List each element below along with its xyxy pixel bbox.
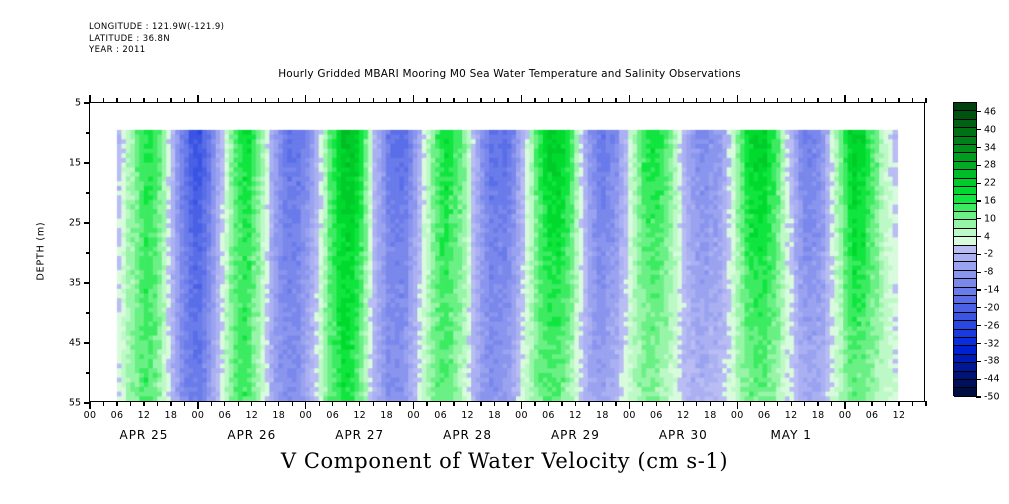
y-tick-minor: [86, 372, 90, 373]
x-tick-top: [844, 95, 845, 103]
colorbar-tick: [976, 325, 981, 326]
x-tick: [494, 401, 495, 406]
x-tick: [103, 401, 104, 406]
x-day-label: APR 30: [659, 428, 708, 442]
x-tick-top: [89, 95, 90, 103]
x-tick: [534, 401, 535, 406]
colorbar-tick: [976, 289, 981, 290]
x-tick-top: [238, 98, 239, 103]
colorbar-cell: [954, 103, 976, 111]
x-tick: [777, 401, 778, 406]
x-tick: [184, 401, 185, 406]
x-tick-label: 00: [407, 410, 420, 421]
x-tick: [359, 401, 360, 406]
y-tick-minor: [86, 312, 90, 313]
y-tick-label: 5: [75, 98, 81, 109]
x-tick-label: 06: [111, 410, 124, 421]
x-tick: [467, 401, 468, 406]
x-tick-top: [373, 98, 374, 103]
x-day-label: APR 28: [443, 428, 492, 442]
colorbar-label: -50: [984, 392, 1000, 403]
x-tick-top: [737, 95, 738, 103]
colorbar-tick: [976, 343, 981, 344]
y-tick-label: 25: [69, 218, 81, 229]
plot-title: Hourly Gridded MBARI Mooring M0 Sea Wate…: [0, 68, 1009, 80]
x-tick: [669, 401, 670, 406]
x-tick-top: [858, 98, 859, 103]
x-tick: [143, 401, 144, 406]
colorbar-tick: [976, 183, 981, 184]
colorbar-label: -32: [984, 338, 1000, 349]
x-tick-top: [898, 98, 899, 103]
x-tick-top: [103, 98, 104, 103]
x-tick-label: 00: [192, 410, 205, 421]
x-tick: [925, 401, 926, 406]
colorbar-cell: [954, 153, 976, 161]
colorbar: 464034282216104-2-8-14-20-26-32-38-44-50: [953, 102, 977, 396]
x-tick: [453, 401, 454, 406]
x-tick-label: 06: [866, 410, 879, 421]
colorbar-cell: [954, 254, 976, 262]
x-tick: [332, 401, 333, 406]
longitude-text: LONGITUDE : 121.9W(-121.9): [89, 22, 224, 34]
x-tick: [170, 401, 171, 406]
colorbar-cell: [954, 355, 976, 363]
colorbar-tick: [976, 200, 981, 201]
x-tick: [629, 401, 630, 409]
colorbar-cell: [954, 229, 976, 237]
y-tick: [84, 282, 90, 283]
x-tick-top: [332, 98, 333, 103]
colorbar-label: -44: [984, 374, 1000, 385]
colorbar-label: -26: [984, 320, 1000, 331]
metadata-block: LONGITUDE : 121.9W(-121.9) LATITUDE : 36…: [89, 22, 224, 57]
y-tick-label: 35: [69, 278, 81, 289]
colorbar-cell: [954, 346, 976, 354]
x-tick: [588, 401, 589, 406]
x-tick: [346, 401, 347, 406]
y-tick-minor: [86, 252, 90, 253]
x-tick-label: 00: [84, 410, 97, 421]
x-tick: [548, 401, 549, 406]
colorbar-cell: [954, 304, 976, 312]
x-tick-top: [561, 98, 562, 103]
colorbar-cell: [954, 313, 976, 321]
x-tick-label: 18: [165, 410, 178, 421]
x-tick: [238, 401, 239, 406]
colorbar-label: 22: [984, 178, 996, 189]
x-tick-top: [116, 98, 117, 103]
colorbar-label: 40: [984, 124, 996, 135]
x-tick-top: [804, 98, 805, 103]
colorbar-label: 4: [984, 231, 990, 242]
y-tick-label: 55: [69, 398, 81, 409]
x-tick-top: [642, 98, 643, 103]
x-tick: [737, 401, 738, 409]
colorbar-label: -2: [984, 249, 993, 260]
x-tick-label: 18: [380, 410, 393, 421]
colorbar-cell: [954, 195, 976, 203]
x-day-label: APR 29: [551, 428, 600, 442]
x-tick-top: [656, 98, 657, 103]
x-tick: [157, 401, 158, 406]
colorbar-cell: [954, 246, 976, 254]
colorbar-label: -38: [984, 356, 1000, 367]
colorbar-tick: [976, 272, 981, 273]
colorbar-cell: [954, 279, 976, 287]
year-text: YEAR : 2011: [89, 45, 224, 57]
x-tick-label: 18: [704, 410, 717, 421]
x-tick-top: [602, 98, 603, 103]
x-tick: [305, 401, 306, 409]
x-tick-top: [548, 98, 549, 103]
colorbar-cell: [954, 128, 976, 136]
x-tick-top: [453, 98, 454, 103]
colorbar-tick: [976, 361, 981, 362]
x-tick-label: 06: [650, 410, 663, 421]
colorbar-cell: [954, 162, 976, 170]
y-tick-minor: [86, 132, 90, 133]
x-tick-label: 00: [515, 410, 528, 421]
x-tick: [507, 401, 508, 406]
x-tick-label: 06: [434, 410, 447, 421]
x-day-label: APR 26: [227, 428, 276, 442]
x-tick: [615, 401, 616, 406]
x-tick-top: [534, 98, 535, 103]
x-tick: [251, 401, 252, 406]
x-tick-top: [925, 98, 926, 103]
y-tick-label: 15: [69, 158, 81, 169]
x-tick-top: [278, 98, 279, 103]
x-tick-label: 00: [731, 410, 744, 421]
y-tick: [84, 222, 90, 223]
x-tick-top: [386, 98, 387, 103]
x-tick-top: [871, 98, 872, 103]
colorbar-cell: [954, 170, 976, 178]
y-tick: [84, 162, 90, 163]
colorbar-tick: [976, 307, 981, 308]
x-tick: [804, 401, 805, 406]
x-tick-label: 12: [138, 410, 151, 421]
colorbar-tick: [976, 236, 981, 237]
x-tick: [130, 401, 131, 406]
x-tick: [211, 401, 212, 406]
x-tick: [858, 401, 859, 406]
colorbar-cell: [954, 137, 976, 145]
y-axis-title: DEPTH (m): [36, 222, 47, 281]
colorbar-cell: [954, 212, 976, 220]
x-tick-top: [494, 98, 495, 103]
colorbar-cell: [954, 179, 976, 187]
x-tick-top: [143, 98, 144, 103]
x-tick-top: [521, 95, 522, 103]
x-tick: [642, 401, 643, 406]
x-tick-top: [669, 98, 670, 103]
colorbar-cell: [954, 288, 976, 296]
x-tick: [480, 401, 481, 406]
colorbar-tick: [976, 147, 981, 148]
x-tick-label: 00: [623, 410, 636, 421]
x-tick-top: [575, 98, 576, 103]
x-tick-top: [440, 98, 441, 103]
x-tick: [683, 401, 684, 406]
colorbar-label: 16: [984, 196, 996, 207]
colorbar-cell: [954, 204, 976, 212]
x-tick: [292, 401, 293, 406]
colorbar-cell: [954, 338, 976, 346]
colorbar-cell: [954, 363, 976, 371]
x-tick-top: [791, 98, 792, 103]
x-day-label: APR 27: [335, 428, 384, 442]
x-tick-top: [764, 98, 765, 103]
colorbar-cell: [954, 321, 976, 329]
x-tick-top: [480, 98, 481, 103]
x-tick: [817, 401, 818, 406]
x-tick: [696, 401, 697, 406]
x-tick: [278, 401, 279, 406]
x-tick: [197, 401, 198, 409]
x-tick-top: [157, 98, 158, 103]
x-tick: [885, 401, 886, 406]
x-tick-label: 06: [758, 410, 771, 421]
x-tick-label: 18: [272, 410, 285, 421]
colorbar-tick: [976, 218, 981, 219]
x-tick: [265, 401, 266, 406]
x-tick-label: 12: [677, 410, 690, 421]
colorbar-cell: [954, 296, 976, 304]
x-tick-top: [696, 98, 697, 103]
x-tick-label: 12: [785, 410, 798, 421]
x-tick-top: [305, 95, 306, 103]
x-tick: [399, 401, 400, 406]
colorbar-cell: [954, 120, 976, 128]
x-tick: [723, 401, 724, 406]
x-tick-top: [615, 98, 616, 103]
x-tick-label: 12: [353, 410, 366, 421]
x-tick-top: [359, 98, 360, 103]
x-tick-top: [683, 98, 684, 103]
x-tick-label: 06: [326, 410, 339, 421]
x-tick-label: 00: [839, 410, 852, 421]
x-day-label: APR 25: [119, 428, 168, 442]
y-tick-minor: [86, 192, 90, 193]
x-tick: [373, 401, 374, 406]
x-day-label: MAY 1: [770, 428, 811, 442]
x-tick-top: [750, 98, 751, 103]
x-tick: [413, 401, 414, 409]
x-tick-label: 12: [245, 410, 258, 421]
x-tick: [831, 401, 832, 406]
x-tick-top: [170, 98, 171, 103]
colorbar-tick: [976, 111, 981, 112]
x-tick: [426, 401, 427, 406]
x-tick: [440, 401, 441, 406]
x-tick-label: 12: [461, 410, 474, 421]
colorbar-cell: [954, 262, 976, 270]
x-tick-top: [292, 98, 293, 103]
x-tick: [791, 401, 792, 406]
x-tick-top: [710, 98, 711, 103]
x-tick-top: [885, 98, 886, 103]
x-tick-top: [399, 98, 400, 103]
colorbar-cell: [954, 187, 976, 195]
x-tick: [575, 401, 576, 406]
x-tick: [602, 401, 603, 406]
x-tick-top: [265, 98, 266, 103]
y-tick-label: 45: [69, 338, 81, 349]
x-tick: [561, 401, 562, 406]
colorbar-label: 10: [984, 213, 996, 224]
x-tick: [656, 401, 657, 406]
x-tick: [844, 401, 845, 409]
plot-area: 5152535455500061218000612180006121800061…: [89, 102, 925, 402]
x-tick-label: 00: [299, 410, 312, 421]
x-tick-label: 06: [542, 410, 555, 421]
colorbar-tick: [976, 165, 981, 166]
colorbar-cell: [954, 372, 976, 380]
colorbar-label: -20: [984, 302, 1000, 313]
x-tick-label: 18: [596, 410, 609, 421]
x-tick-top: [211, 98, 212, 103]
x-tick: [912, 401, 913, 406]
colorbar-cell: [954, 330, 976, 338]
x-tick-top: [251, 98, 252, 103]
x-tick-top: [413, 95, 414, 103]
x-tick-top: [629, 95, 630, 103]
x-tick: [116, 401, 117, 406]
colorbar-cell: [954, 111, 976, 119]
colorbar-tick: [976, 396, 981, 397]
x-tick-top: [777, 98, 778, 103]
velocity-heatmap: [90, 103, 924, 401]
x-tick: [871, 401, 872, 406]
colorbar-label: 46: [984, 106, 996, 117]
x-tick-top: [831, 98, 832, 103]
x-tick-top: [588, 98, 589, 103]
x-tick: [710, 401, 711, 406]
x-tick-label: 12: [893, 410, 906, 421]
x-tick: [224, 401, 225, 406]
colorbar-tick: [976, 254, 981, 255]
colorbar-cell: [954, 237, 976, 245]
x-tick: [764, 401, 765, 406]
x-tick-top: [426, 98, 427, 103]
colorbar-tick: [976, 129, 981, 130]
colorbar-cell: [954, 380, 976, 388]
x-tick: [750, 401, 751, 406]
x-tick-label: 18: [812, 410, 825, 421]
x-tick-top: [507, 98, 508, 103]
colorbar-label: -14: [984, 285, 1000, 296]
colorbar-label: 28: [984, 160, 996, 171]
x-tick-top: [319, 98, 320, 103]
colorbar-cell: [954, 145, 976, 153]
figure-caption: V Component of Water Velocity (cm s-1): [0, 449, 1009, 473]
colorbar-cell: [954, 271, 976, 279]
x-tick-top: [130, 98, 131, 103]
x-tick-top: [346, 98, 347, 103]
x-tick: [386, 401, 387, 406]
x-tick-label: 12: [569, 410, 582, 421]
x-tick-top: [184, 98, 185, 103]
x-tick-top: [467, 98, 468, 103]
x-tick: [89, 401, 90, 409]
colorbar-label: -8: [984, 267, 993, 278]
x-tick: [898, 401, 899, 406]
x-tick-label: 06: [218, 410, 231, 421]
x-tick: [521, 401, 522, 409]
y-tick: [84, 342, 90, 343]
x-tick-label: 18: [488, 410, 501, 421]
x-tick-top: [723, 98, 724, 103]
x-tick-top: [912, 98, 913, 103]
x-tick-top: [224, 98, 225, 103]
x-tick-top: [817, 98, 818, 103]
x-tick-top: [197, 95, 198, 103]
colorbar-cell: [954, 220, 976, 228]
latitude-text: LATITUDE : 36.8N: [89, 34, 224, 46]
x-tick: [319, 401, 320, 406]
colorbar-cell: [954, 388, 976, 396]
colorbar-tick: [976, 379, 981, 380]
colorbar-label: 34: [984, 142, 996, 153]
